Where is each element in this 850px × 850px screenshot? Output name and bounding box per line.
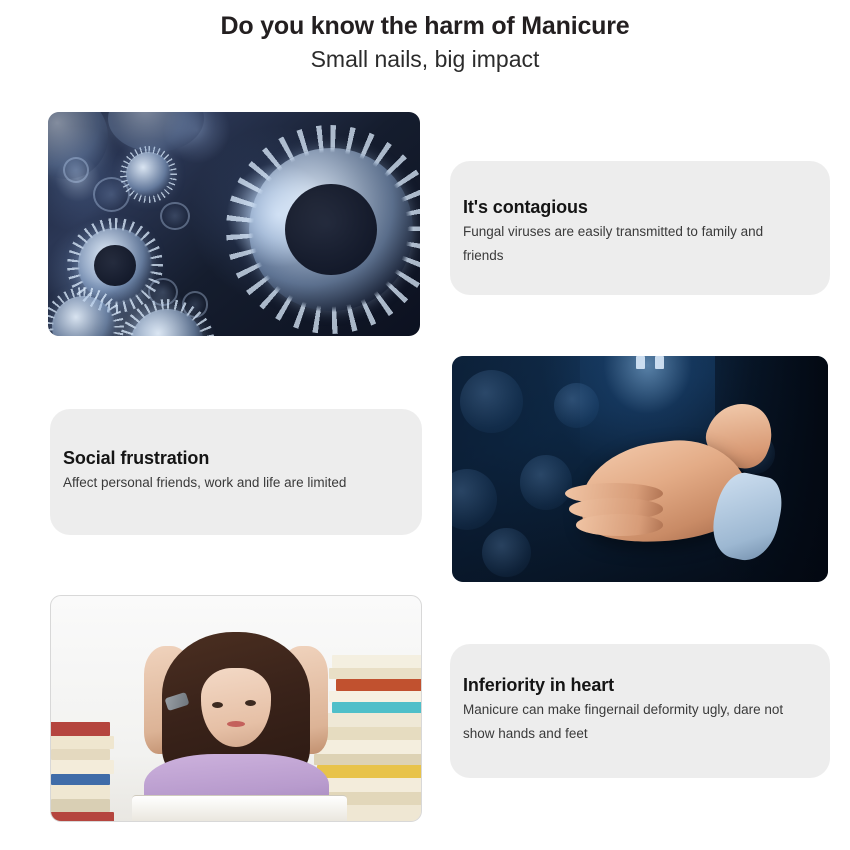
book-left-2 (50, 736, 114, 750)
woman-eye-left (212, 702, 223, 708)
book-right-4 (329, 691, 423, 702)
book-left-4 (50, 760, 114, 774)
window-light-left (636, 356, 645, 369)
bokeh-circle-5 (554, 383, 599, 428)
card-social-title: Social frustration (63, 447, 400, 470)
book-left-1 (50, 722, 110, 736)
woman-eye-right (245, 700, 256, 706)
virus-particle-small-top (126, 152, 171, 197)
virus-halo-a (93, 177, 130, 212)
virus-particle-lower-left (52, 296, 115, 336)
virus-micrograph-photo (48, 112, 420, 336)
hand-finger-ring (576, 514, 662, 535)
book-right-5 (332, 702, 422, 713)
card-inferiority-body: Manicure can make fingernail deformity u… (463, 698, 803, 746)
card-inferiority-in-heart: Inferiority in heart Manicure can make f… (450, 644, 830, 778)
bokeh-circle-1 (460, 370, 524, 433)
card-inferiority-title: Inferiority in heart (463, 674, 808, 697)
book-right-10 (317, 765, 422, 779)
book-right-2 (329, 668, 423, 679)
virus-halo-b (160, 202, 190, 231)
book-left-3 (51, 749, 110, 760)
page-title: Do you know the harm of Manicure (0, 10, 850, 42)
book-left-8 (50, 812, 114, 822)
bokeh-circle-4 (482, 528, 531, 578)
card-contagious-body: Fungal viruses are easily transmitted to… (463, 220, 803, 268)
book-right-6 (325, 713, 422, 727)
card-contagious: It's contagious Fungal viruses are easil… (450, 161, 830, 295)
virus-halo-d (182, 291, 208, 317)
window-light-right (655, 356, 664, 369)
virus-halo-e (63, 157, 89, 183)
card-contagious-title: It's contagious (463, 196, 808, 219)
book-right-1 (332, 655, 422, 669)
page-subtitle: Small nails, big impact (0, 44, 850, 74)
infographic-page: Do you know the harm of Manicure Small n… (0, 0, 850, 850)
open-hand-photo (452, 356, 828, 582)
woman-mouth (227, 721, 245, 727)
bokeh-circle-3 (520, 455, 573, 509)
book-right-7 (314, 727, 422, 741)
virus-particle-main (249, 148, 413, 312)
open-book-foreground (132, 795, 347, 822)
card-social-body: Affect personal friends, work and life a… (63, 471, 400, 495)
book-right-9 (314, 754, 422, 765)
book-left-5 (51, 774, 110, 785)
book-right-8 (317, 740, 422, 754)
card-social-frustration: Social frustration Affect personal frien… (50, 409, 422, 535)
book-right-11 (314, 778, 422, 792)
virus-particle-blurred-top (108, 112, 205, 152)
header: Do you know the harm of Manicure Small n… (0, 10, 850, 74)
stressed-woman-books-photo (50, 595, 422, 822)
book-left-6 (50, 785, 110, 799)
book-left-7 (51, 799, 110, 813)
book-right-3 (336, 679, 422, 690)
